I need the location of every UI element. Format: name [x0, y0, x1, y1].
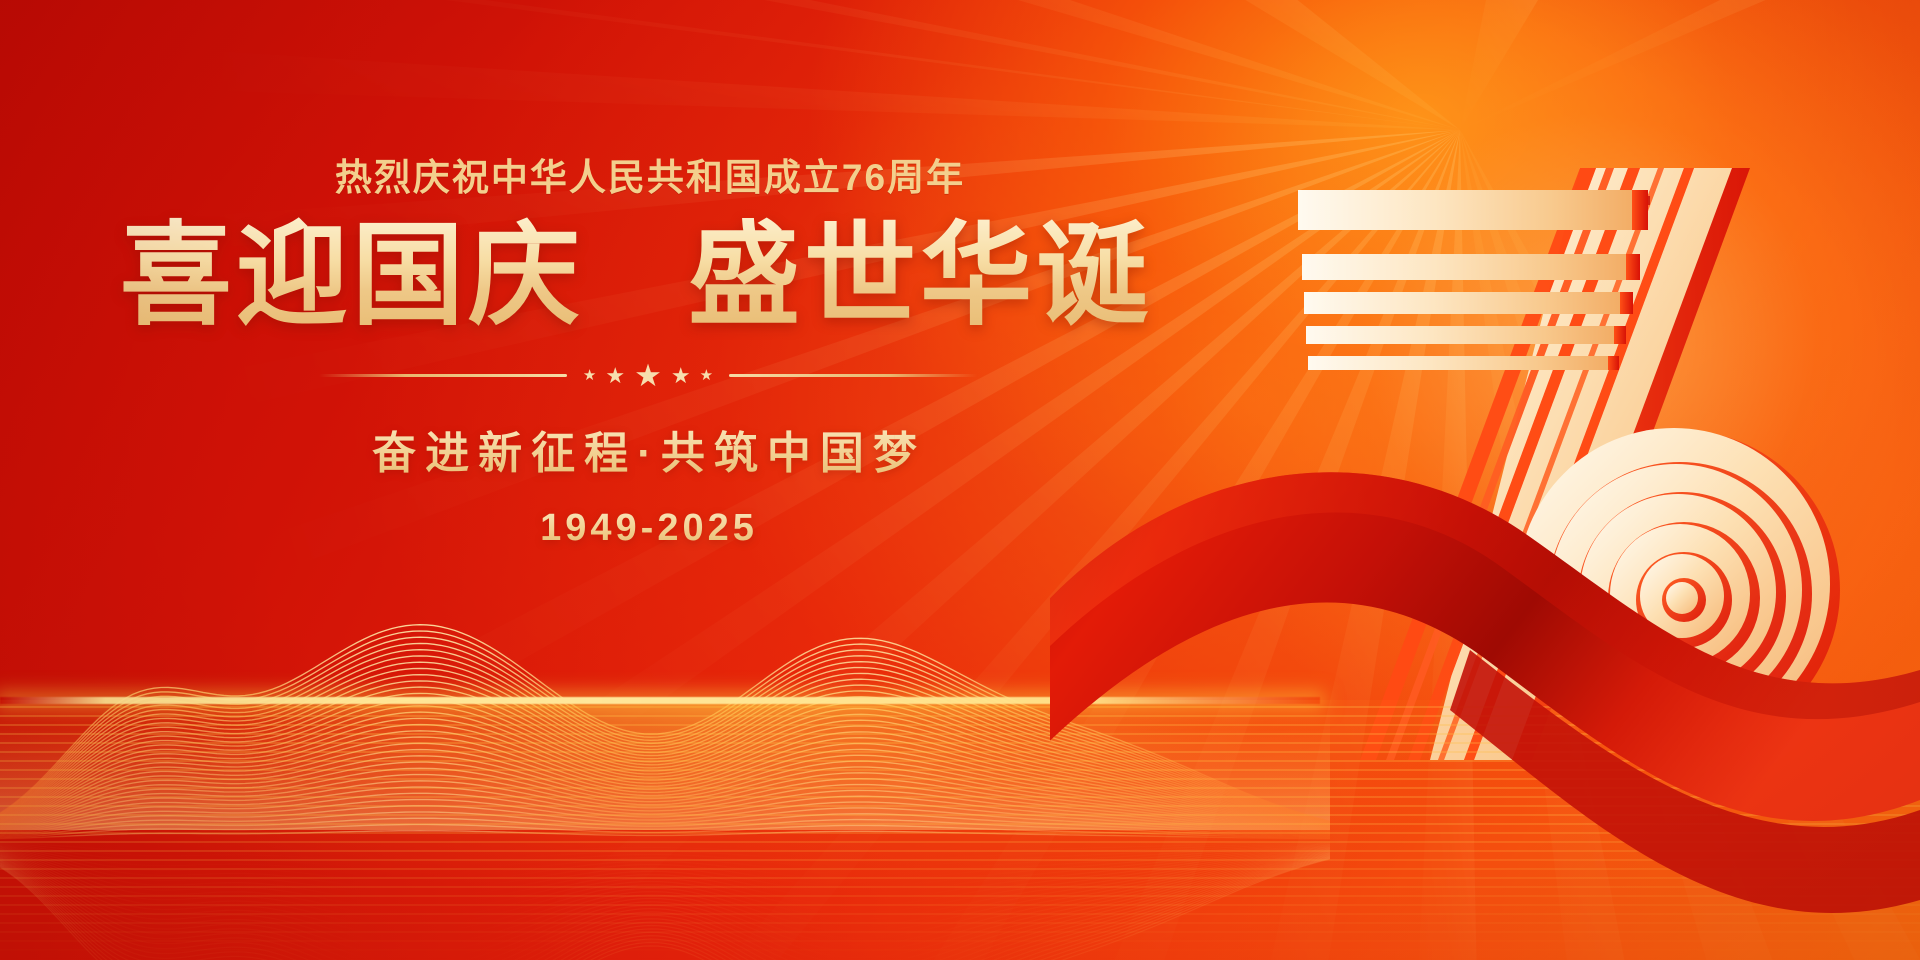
silk-ribbon — [1050, 470, 1920, 960]
star-icon: ★ — [634, 360, 662, 391]
star-divider: ★ ★ ★ ★ ★ — [96, 360, 1176, 391]
star-icon: ★ — [583, 368, 596, 383]
star-group: ★ ★ ★ ★ ★ — [583, 360, 713, 391]
tagline-text: 奋进新征程·共筑中国梦 — [96, 417, 1176, 481]
star-icon: ★ — [700, 368, 713, 383]
divider-line-left — [319, 374, 567, 377]
eyebrow-text: 热烈庆祝中华人民共和国成立76周年 — [96, 158, 1176, 199]
text-block: 热烈庆祝中华人民共和国成立76周年 喜迎国庆 盛世华诞 ★ ★ ★ ★ ★ 奋进… — [96, 158, 1176, 550]
star-icon: ★ — [671, 365, 691, 387]
divider-line-right — [729, 374, 977, 377]
headline-right: 盛世华诞 — [688, 213, 1152, 338]
national-day-poster: 热烈庆祝中华人民共和国成立76周年 喜迎国庆 盛世华诞 ★ ★ ★ ★ ★ 奋进… — [0, 0, 1920, 960]
page-title: 喜迎国庆 盛世华诞 — [96, 213, 1176, 338]
headline-left: 喜迎国庆 — [120, 213, 584, 338]
year-range: 1949-2025 — [96, 507, 1176, 550]
star-icon: ★ — [605, 365, 625, 387]
